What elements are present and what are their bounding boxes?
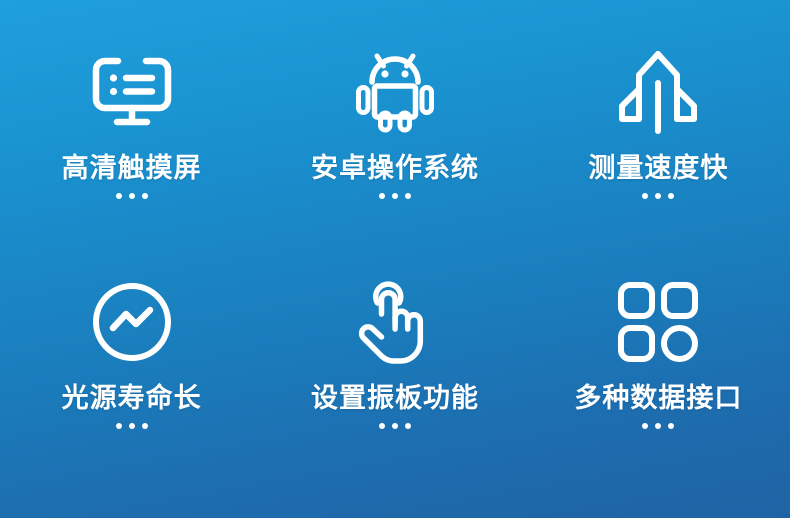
dot [116,423,122,429]
feature-dots [116,193,148,199]
feature-card-data-interfaces[interactable]: 多种数据接口 [527,260,790,490]
dot [668,423,674,429]
android-robot-icon [347,44,443,140]
feature-label: 测量速度快 [588,154,728,182]
feature-banner: 高清触摸屏 [0,0,790,518]
dot [655,423,661,429]
hand-tap-icon [347,274,443,370]
feature-label: 安卓操作系统 [311,154,479,182]
feature-label: 多种数据接口 [574,384,742,412]
feature-label: 高清触摸屏 [62,154,202,182]
dot [668,193,674,199]
dot [142,193,148,199]
feature-card-fast-measurement[interactable]: 测量速度快 [527,30,790,260]
feature-grid: 高清触摸屏 [0,30,790,490]
feature-label: 设置振板功能 [311,384,479,412]
dot [405,423,411,429]
rocket-icon [610,44,706,140]
feature-dots [379,193,411,199]
dot [392,423,398,429]
dot [379,423,385,429]
feature-dots [642,423,674,429]
dot [379,193,385,199]
feature-card-android-os[interactable]: 安卓操作系统 [263,30,526,260]
dot [142,423,148,429]
feature-card-long-lamp-life[interactable]: 光源寿命长 [0,260,263,490]
dot [642,193,648,199]
feature-dots [642,193,674,199]
dot [129,423,135,429]
feature-label: 光源寿命长 [62,384,202,412]
feature-card-vibration-plate[interactable]: 设置振板功能 [263,260,526,490]
feature-dots [379,423,411,429]
dot [655,193,661,199]
circle-waveform-icon [84,274,180,370]
feature-card-hd-touchscreen[interactable]: 高清触摸屏 [0,30,263,260]
dot [129,193,135,199]
monitor-list-icon [84,44,180,140]
feature-dots [116,423,148,429]
dot [405,193,411,199]
grid-interfaces-icon [610,274,706,370]
dot [116,193,122,199]
dot [392,193,398,199]
dot [642,423,648,429]
